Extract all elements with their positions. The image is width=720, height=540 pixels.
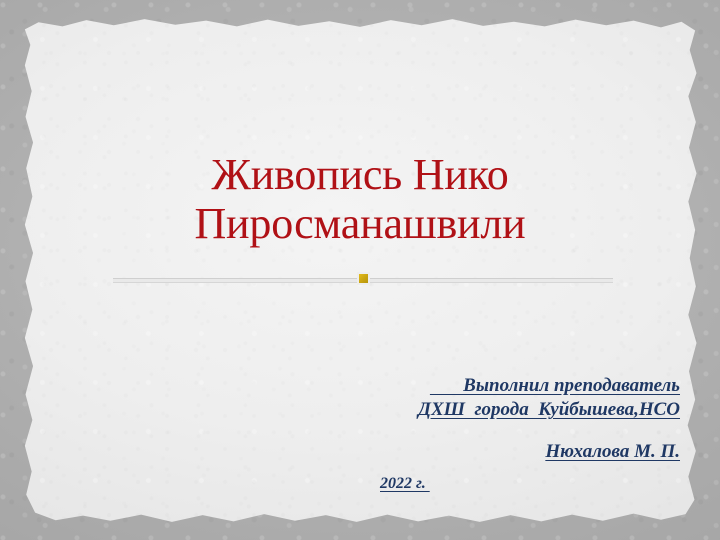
gold-square-icon — [359, 274, 368, 283]
slide-title-line-1: Живопись Нико — [60, 150, 660, 199]
subtitle-line-4-text: 2022 г. — [380, 475, 430, 492]
subtitle-line-4: 2022 г. — [232, 474, 680, 494]
title-divider — [113, 272, 613, 288]
subtitle-placeholder[interactable]: Выполнил преподаватель ДХШ города Куйбыш… — [232, 374, 680, 494]
subtitle-line-3-text: Нюхалова М. П. — [545, 441, 680, 462]
presentation-slide: Живопись Нико Пиросманашвили Выполнил пр… — [0, 0, 720, 540]
slide-title-line-2: Пиросманашвили — [60, 199, 660, 248]
subtitle-line-1: Выполнил преподаватель — [232, 374, 680, 398]
subtitle-line-2: ДХШ города Куйбышева,НСО — [232, 398, 680, 422]
subtitle-line-2-text: ДХШ города Куйбышева,НСО — [418, 399, 680, 420]
subtitle-line-1-text: Выполнил преподаватель — [430, 375, 680, 396]
subtitle-line-3: Нюхалова М. П. — [232, 440, 680, 464]
title-placeholder[interactable]: Живопись Нико Пиросманашвили — [60, 150, 660, 249]
